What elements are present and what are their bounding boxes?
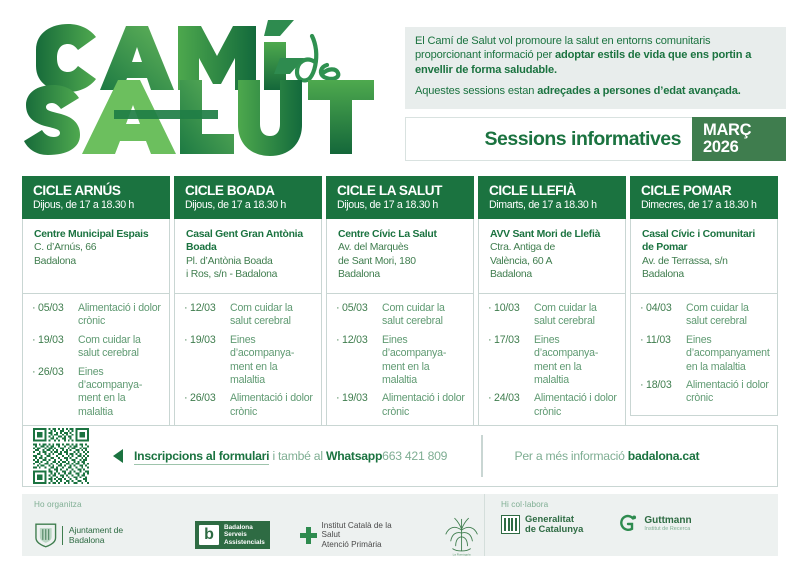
session-row: · 04/03 Com cuidar la salut cerebral	[640, 302, 771, 329]
venue-name: Casal Gent Gran Antònia Boada	[186, 228, 313, 255]
logo-artwork	[18, 20, 393, 160]
session-row: · 12/03 Eines d’acompanya-ment en la mal…	[336, 334, 467, 388]
session-row: · 11/03 Eines d’acompanyament en la mala…	[640, 334, 771, 374]
venue-address-line: i Ros, s/n - Badalona	[186, 268, 313, 281]
whatsapp-phone[interactable]: 663 421 809	[382, 449, 447, 463]
ajuntament-name: Ajuntament de Badalona	[69, 525, 159, 545]
venue-address-line: Badalona	[642, 268, 769, 281]
ics-line-2: Atenció Primària	[322, 540, 411, 550]
registration-text: Inscripcions al formulari i també al Wha…	[134, 449, 447, 463]
registration-form-link[interactable]: Inscripcions al formulari	[134, 449, 269, 465]
cycle-venue: Centre Cívic La Salut Av. del Marquès de…	[327, 219, 473, 293]
session-date: 05/03	[342, 302, 382, 329]
session-row: · 24/03 Alimentació i dolor crònic	[488, 392, 619, 419]
cycle-sessions: · 05/03 Com cuidar la salut cerebral · 1…	[327, 293, 473, 427]
guttmann-name: Guttmann Institut de Recerca	[644, 515, 691, 533]
venue-address-line: Pl. d’Antònia Boada	[186, 255, 313, 268]
cycle-sessions: · 05/03 Alimentació i dolor crònic · 19/…	[23, 293, 169, 427]
logo-divider	[62, 526, 63, 545]
registration-connector: i també al	[269, 449, 326, 463]
session-date: 26/03	[38, 366, 78, 420]
cycle-title: CICLE LA SALUT	[337, 183, 474, 198]
session-date: 10/03	[494, 302, 534, 329]
more-info-prefix: Per a més informació	[515, 449, 628, 463]
venue-address-line: Badalona	[490, 268, 617, 281]
session-date: 17/03	[494, 334, 534, 388]
session-row: · 26/03 Eines d’acompanya-ment en la mal…	[32, 366, 163, 420]
session-topic: Eines d’acompanya-ment en la malaltia	[78, 366, 163, 420]
poster-footer: Ho organitza Ajuntament de Badalona b	[22, 494, 778, 556]
venue-name: AVV Sant Mori de Llefià	[490, 228, 617, 241]
cycle-venue: Centre Municipal Espais C. d’Arnús, 66 B…	[23, 219, 169, 293]
session-date: 18/03	[646, 379, 686, 406]
cycle-column-llefia: CICLE LLEFIÀ Dimarts, de 17 a 18.30 h AV…	[478, 176, 626, 416]
venue-address-line: Badalona	[34, 255, 161, 268]
session-topic: Eines d’acompanya-ment en la malaltia	[382, 334, 467, 388]
session-date: 05/03	[38, 302, 78, 329]
svg-text:La Romàgola: La Romàgola	[452, 553, 470, 557]
cycle-sessions: · 04/03 Com cuidar la salut cerebral · 1…	[631, 293, 777, 415]
cycle-body: Centre Cívic La Salut Av. del Marquès de…	[326, 219, 474, 428]
cycle-title: CICLE POMAR	[641, 183, 778, 198]
poster-header: El Camí de Salut vol promoure la salut e…	[0, 0, 800, 168]
collaborators-section: Hi col·labora Generalitat de Catalunya	[484, 494, 778, 556]
cycle-title: CICLE BOADA	[185, 183, 322, 198]
session-date: 19/03	[342, 392, 382, 419]
cycle-sessions: · 12/03 Com cuidar la salut cerebral · 1…	[175, 293, 321, 427]
sessions-banner-year: 2026	[703, 139, 786, 157]
venue-name: Centre Cívic La Salut	[338, 228, 465, 241]
ics-line-1: Institut Català de la Salut	[322, 521, 411, 540]
session-topic: Eines d’acompanyament en la malaltia	[686, 334, 771, 374]
logo-ajuntament-badalona: Ajuntament de Badalona	[34, 522, 159, 548]
cycle-body: Casal Cívic i Comunitari de Pomar Av. de…	[630, 219, 778, 416]
generalitat-name: Generalitat de Catalunya	[525, 514, 583, 535]
website-link[interactable]: badalona.cat	[628, 449, 700, 463]
venue-address-line: Ctra. Antiga de	[490, 241, 617, 254]
cycle-schedule: Dimarts, de 17 a 18.30 h	[489, 198, 626, 212]
session-topic: Com cuidar la salut cerebral	[230, 302, 315, 329]
cycle-column-boada: CICLE BOADA Dijous, de 17 a 18.30 h Casa…	[174, 176, 322, 416]
organiser-logos: Ajuntament de Badalona b Badalona Servei…	[34, 513, 484, 557]
session-topic: Alimentació i dolor crònic	[382, 392, 467, 419]
poster-canvas: El Camí de Salut vol promoure la salut e…	[0, 0, 800, 565]
cycle-body: Centre Municipal Espais C. d’Arnús, 66 B…	[22, 219, 170, 428]
medical-cross-icon	[300, 527, 317, 544]
cycle-schedule: Dijous, de 17 a 18.30 h	[33, 198, 170, 212]
venue-name: Casal Cívic i Comunitari de Pomar	[642, 228, 769, 255]
session-topic: Alimentació i dolor crònic	[686, 379, 771, 406]
cycle-column-pomar: CICLE POMAR Dimecres, de 17 a 18.30 h Ca…	[630, 176, 778, 416]
session-date: 19/03	[38, 334, 78, 361]
intro-p2-plain: Aquestes sessions estan	[415, 85, 537, 97]
cycle-schedule: Dimecres, de 17 a 18.30 h	[641, 198, 778, 212]
intro-paragraph-1: El Camí de Salut vol promoure la salut e…	[415, 34, 774, 77]
session-row: · 19/03 Com cuidar la salut cerebral	[32, 334, 163, 361]
whatsapp-label: Whatsapp	[326, 449, 382, 463]
badalona-shield-icon	[34, 522, 58, 548]
session-row: · 05/03 Alimentació i dolor crònic	[32, 302, 163, 329]
qr-code-icon[interactable]	[33, 428, 89, 484]
intro-p2-bold: adreçades a persones d’edat avançada.	[537, 85, 741, 97]
left-arrow-icon	[113, 449, 123, 463]
session-row: · 10/03 Com cuidar la salut cerebral	[488, 302, 619, 329]
cycle-header-llefia: CICLE LLEFIÀ Dimarts, de 17 a 18.30 h	[478, 176, 626, 219]
tree-logo-icon: La Romàgola	[439, 513, 484, 557]
cycle-title: CICLE LLEFIÀ	[489, 183, 626, 198]
session-topic: Com cuidar la salut cerebral	[382, 302, 467, 329]
registration-strip: Inscripcions al formulari i també al Wha…	[22, 425, 778, 487]
qr-code-container[interactable]	[31, 427, 91, 485]
cycles-grid: CICLE ARNÚS Dijous, de 17 a 18.30 h Cent…	[22, 176, 778, 416]
logo-guttmann: Guttmann Institut de Recerca	[617, 513, 691, 535]
cycle-header-arnus: CICLE ARNÚS Dijous, de 17 a 18.30 h	[22, 176, 170, 219]
logo-badalona-serveis-assistencials: b Badalona Serveis Assistencials	[195, 521, 270, 549]
cycle-column-la-salut: CICLE LA SALUT Dijous, de 17 a 18.30 h C…	[326, 176, 474, 416]
venue-address-line: Av. de Terrassa, s/n	[642, 255, 769, 268]
cycle-column-arnus: CICLE ARNÚS Dijous, de 17 a 18.30 h Cent…	[22, 176, 170, 416]
cycle-venue: Casal Gent Gran Antònia Boada Pl. d’Antò…	[175, 219, 321, 293]
session-row: · 18/03 Alimentació i dolor crònic	[640, 379, 771, 406]
session-date: 04/03	[646, 302, 686, 329]
session-topic: Com cuidar la salut cerebral	[686, 302, 771, 329]
more-info-text: Per a més informació badalona.cat	[515, 449, 700, 463]
session-date: 24/03	[494, 392, 534, 419]
venue-address-line: de Sant Mori, 180	[338, 255, 465, 268]
cycle-title: CICLE ARNÚS	[33, 183, 170, 198]
session-row: · 12/03 Com cuidar la salut cerebral	[184, 302, 315, 329]
sessions-banner-title: Sessions informatives	[485, 128, 682, 151]
guttmann-g-icon	[617, 513, 639, 535]
session-date: 19/03	[190, 334, 230, 388]
venue-address-line: C. d’Arnús, 66	[34, 241, 161, 254]
session-row: · 05/03 Com cuidar la salut cerebral	[336, 302, 467, 329]
session-topic: Alimentació i dolor crònic	[78, 302, 163, 329]
logo-generalitat-catalunya: Generalitat de Catalunya	[501, 514, 583, 535]
generalitat-line-2: de Catalunya	[525, 524, 583, 534]
venue-address-line: Av. del Marquès	[338, 241, 465, 254]
collaborator-label: Hi col·labora	[501, 500, 778, 509]
organisers-section: Ho organitza Ajuntament de Badalona b	[22, 494, 484, 556]
logo-institut-catala-salut: Institut Català de la Salut Atenció Prim…	[300, 521, 411, 550]
cami-de-salut-logo	[18, 20, 393, 160]
session-date: 26/03	[190, 392, 230, 419]
sessions-banner: Sessions informatives MARÇ 2026	[405, 117, 786, 161]
bsa-b-mark: b	[199, 525, 219, 545]
venue-name: Centre Municipal Espais	[34, 228, 161, 241]
session-topic: Alimentació i dolor crònic	[230, 392, 315, 419]
cycle-header-pomar: CICLE POMAR Dimecres, de 17 a 18.30 h	[630, 176, 778, 219]
intro-paragraph-2: Aquestes sessions estan adreçades a pers…	[415, 84, 774, 98]
session-date: 12/03	[342, 334, 382, 388]
bsa-name: Badalona Serveis Assistencials	[224, 524, 265, 546]
bsa-line-3: Assistencials	[224, 539, 265, 546]
session-row: · 26/03 Alimentació i dolor crònic	[184, 392, 315, 419]
venue-address-line: Badalona	[338, 268, 465, 281]
cycle-header-la-salut: CICLE LA SALUT Dijous, de 17 a 18.30 h	[326, 176, 474, 219]
guttmann-title: Guttmann	[644, 515, 691, 526]
guttmann-subtitle: Institut de Recerca	[644, 526, 691, 533]
cycle-body: Casal Gent Gran Antònia Boada Pl. d’Antò…	[174, 219, 322, 428]
bsa-line-1: Badalona	[224, 524, 265, 531]
session-topic: Com cuidar la salut cerebral	[534, 302, 619, 329]
bsa-line-2: Serveis	[224, 531, 265, 538]
session-topic: Alimentació i dolor crònic	[534, 392, 619, 419]
cycle-body: AVV Sant Mori de Llefià Ctra. Antiga de …	[478, 219, 626, 428]
cycle-header-boada: CICLE BOADA Dijous, de 17 a 18.30 h	[174, 176, 322, 219]
session-topic: Eines d’acompanya-ment en la malaltia	[230, 334, 315, 388]
cycle-schedule: Dijous, de 17 a 18.30 h	[337, 198, 474, 212]
senyera-icon	[501, 515, 520, 534]
cycle-schedule: Dijous, de 17 a 18.30 h	[185, 198, 322, 212]
cycle-venue: AVV Sant Mori de Llefià Ctra. Antiga de …	[479, 219, 625, 293]
session-topic: Com cuidar la salut cerebral	[78, 334, 163, 361]
session-date: 11/03	[646, 334, 686, 374]
vertical-divider	[481, 435, 482, 477]
organiser-label: Ho organitza	[34, 500, 484, 509]
session-date: 12/03	[190, 302, 230, 329]
collaborator-logos: Generalitat de Catalunya Guttmann Instit…	[501, 513, 778, 535]
sessions-banner-left: Sessions informatives	[405, 117, 692, 161]
session-row: · 19/03 Alimentació i dolor crònic	[336, 392, 467, 419]
sessions-banner-date: MARÇ 2026	[692, 117, 786, 161]
cycle-venue: Casal Cívic i Comunitari de Pomar Av. de…	[631, 219, 777, 293]
session-row: · 19/03 Eines d’acompanya-ment en la mal…	[184, 334, 315, 388]
venue-address-line: València, 60 A	[490, 255, 617, 268]
sessions-banner-month: MARÇ	[703, 122, 786, 139]
session-topic: Eines d’acompanya-ment en la malaltia	[534, 334, 619, 388]
cycle-sessions: · 10/03 Com cuidar la salut cerebral · 1…	[479, 293, 625, 427]
ics-name: Institut Català de la Salut Atenció Prim…	[322, 521, 411, 550]
intro-paragraph-panel: El Camí de Salut vol promoure la salut e…	[405, 27, 786, 109]
session-row: · 17/03 Eines d’acompanya-ment en la mal…	[488, 334, 619, 388]
